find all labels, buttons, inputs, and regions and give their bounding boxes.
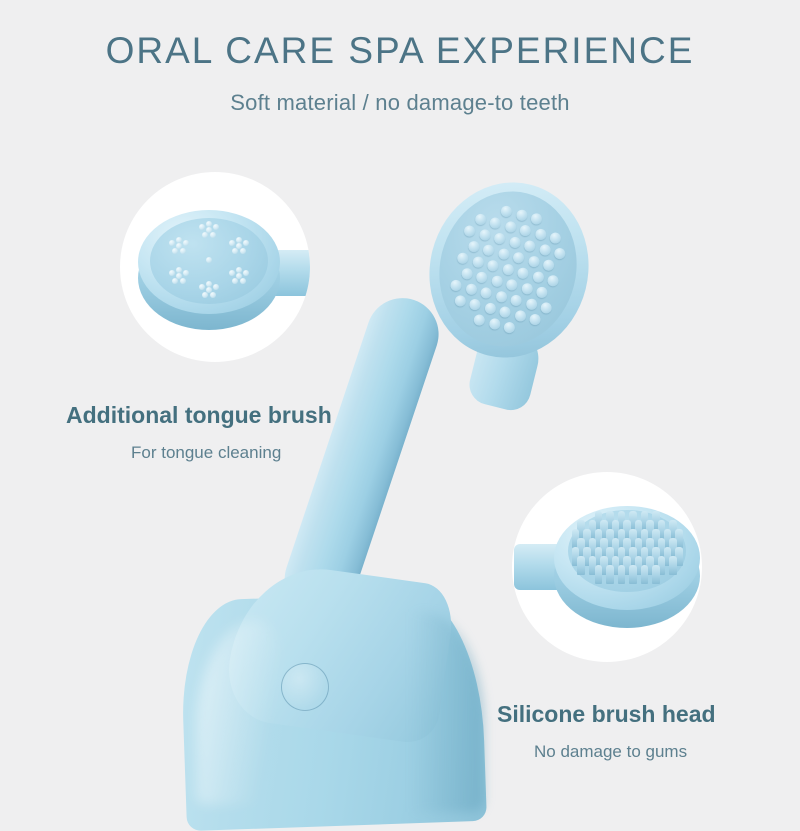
power-button[interactable]: [281, 663, 329, 711]
brush-nub: [521, 282, 534, 295]
brush-handle: [179, 591, 487, 831]
brush-nub: [489, 216, 502, 229]
brush-head-face: [423, 177, 593, 361]
silicone-bristle: [652, 565, 660, 584]
caption-subtitle-tongue-brush: For tongue cleaning: [131, 443, 281, 463]
inset-silicone-head: [512, 472, 702, 662]
brush-nub: [490, 274, 503, 287]
brush-nub: [523, 239, 536, 252]
brush-nub: [530, 212, 543, 225]
silicone-bristle: [577, 556, 585, 575]
product-banner: ORAL CARE SPA EXPERIENCE Soft material /…: [0, 0, 800, 800]
brush-nub: [536, 285, 549, 298]
brush-nub: [482, 243, 495, 256]
silicone-bristle: [595, 565, 603, 584]
brush-nub: [454, 294, 467, 307]
brush-nub: [495, 290, 508, 303]
brush-head: [424, 178, 604, 378]
handle-highlight: [196, 620, 286, 805]
brush-nub: [514, 309, 527, 322]
brush-nub: [475, 270, 488, 283]
brush-nub: [527, 254, 540, 267]
brush-head-neck: [465, 322, 545, 415]
brush-nub: [497, 247, 510, 260]
brush-nub: [480, 286, 493, 299]
brush-nub: [471, 255, 484, 268]
brush-nub: [508, 235, 521, 248]
brush-nub: [474, 212, 487, 225]
brush-nub: [469, 297, 482, 310]
brush-head-nubs: [461, 177, 593, 210]
handle-shading: [392, 612, 484, 812]
silicone-bristle: [629, 565, 637, 584]
brush-nub: [501, 262, 514, 275]
brush-nub: [484, 301, 497, 314]
brush-nub: [542, 258, 555, 271]
brush-nub: [460, 267, 473, 280]
silicone-bristle: [606, 565, 614, 584]
brush-nub: [546, 274, 559, 287]
brush-nub: [512, 251, 525, 264]
brush-nub: [516, 266, 529, 279]
brush-nub: [529, 312, 542, 325]
brush-nub: [519, 223, 532, 236]
brush-nub: [538, 243, 551, 256]
brush-nub: [467, 239, 480, 252]
caption-subtitle-silicone-head: No damage to gums: [534, 742, 687, 762]
silicone-bristle: [618, 565, 626, 584]
brush-nub: [525, 297, 538, 310]
inset-tongue-brush: [120, 172, 310, 362]
silicone-bristle: [669, 556, 677, 575]
brush-nub: [456, 251, 469, 264]
caption-title-tongue-brush: Additional tongue brush: [66, 402, 332, 429]
page-subhead: Soft material / no damage-to teeth: [0, 90, 800, 116]
brush-shaft: [275, 289, 448, 625]
brush-nub: [488, 317, 501, 330]
brush-nub: [493, 231, 506, 244]
brush-nub: [503, 320, 516, 333]
brush-nub: [504, 220, 517, 233]
page-headline: ORAL CARE SPA EXPERIENCE: [0, 30, 800, 72]
brush-nub: [531, 270, 544, 283]
product-illustration: [0, 0, 800, 800]
brush-nub: [449, 278, 462, 291]
brush-nub: [463, 224, 476, 237]
brush-nub: [473, 313, 486, 326]
brush-nub: [464, 282, 477, 295]
brush-nub: [540, 301, 553, 314]
brush-nub: [549, 231, 562, 244]
brush-nub: [505, 278, 518, 291]
caption-title-silicone-head: Silicone brush head: [497, 701, 716, 728]
brush-nub: [510, 293, 523, 306]
brush-nub: [478, 228, 491, 241]
brush-nub: [499, 305, 512, 318]
brush-nub: [515, 208, 528, 221]
brush-nub: [534, 227, 547, 240]
handle-shoulder: [222, 558, 457, 746]
silicone-bristle: [641, 565, 649, 584]
brush-nub: [553, 246, 566, 259]
brush-nub: [486, 259, 499, 272]
brush-nub: [500, 204, 513, 217]
brush-head-back: [411, 166, 607, 375]
